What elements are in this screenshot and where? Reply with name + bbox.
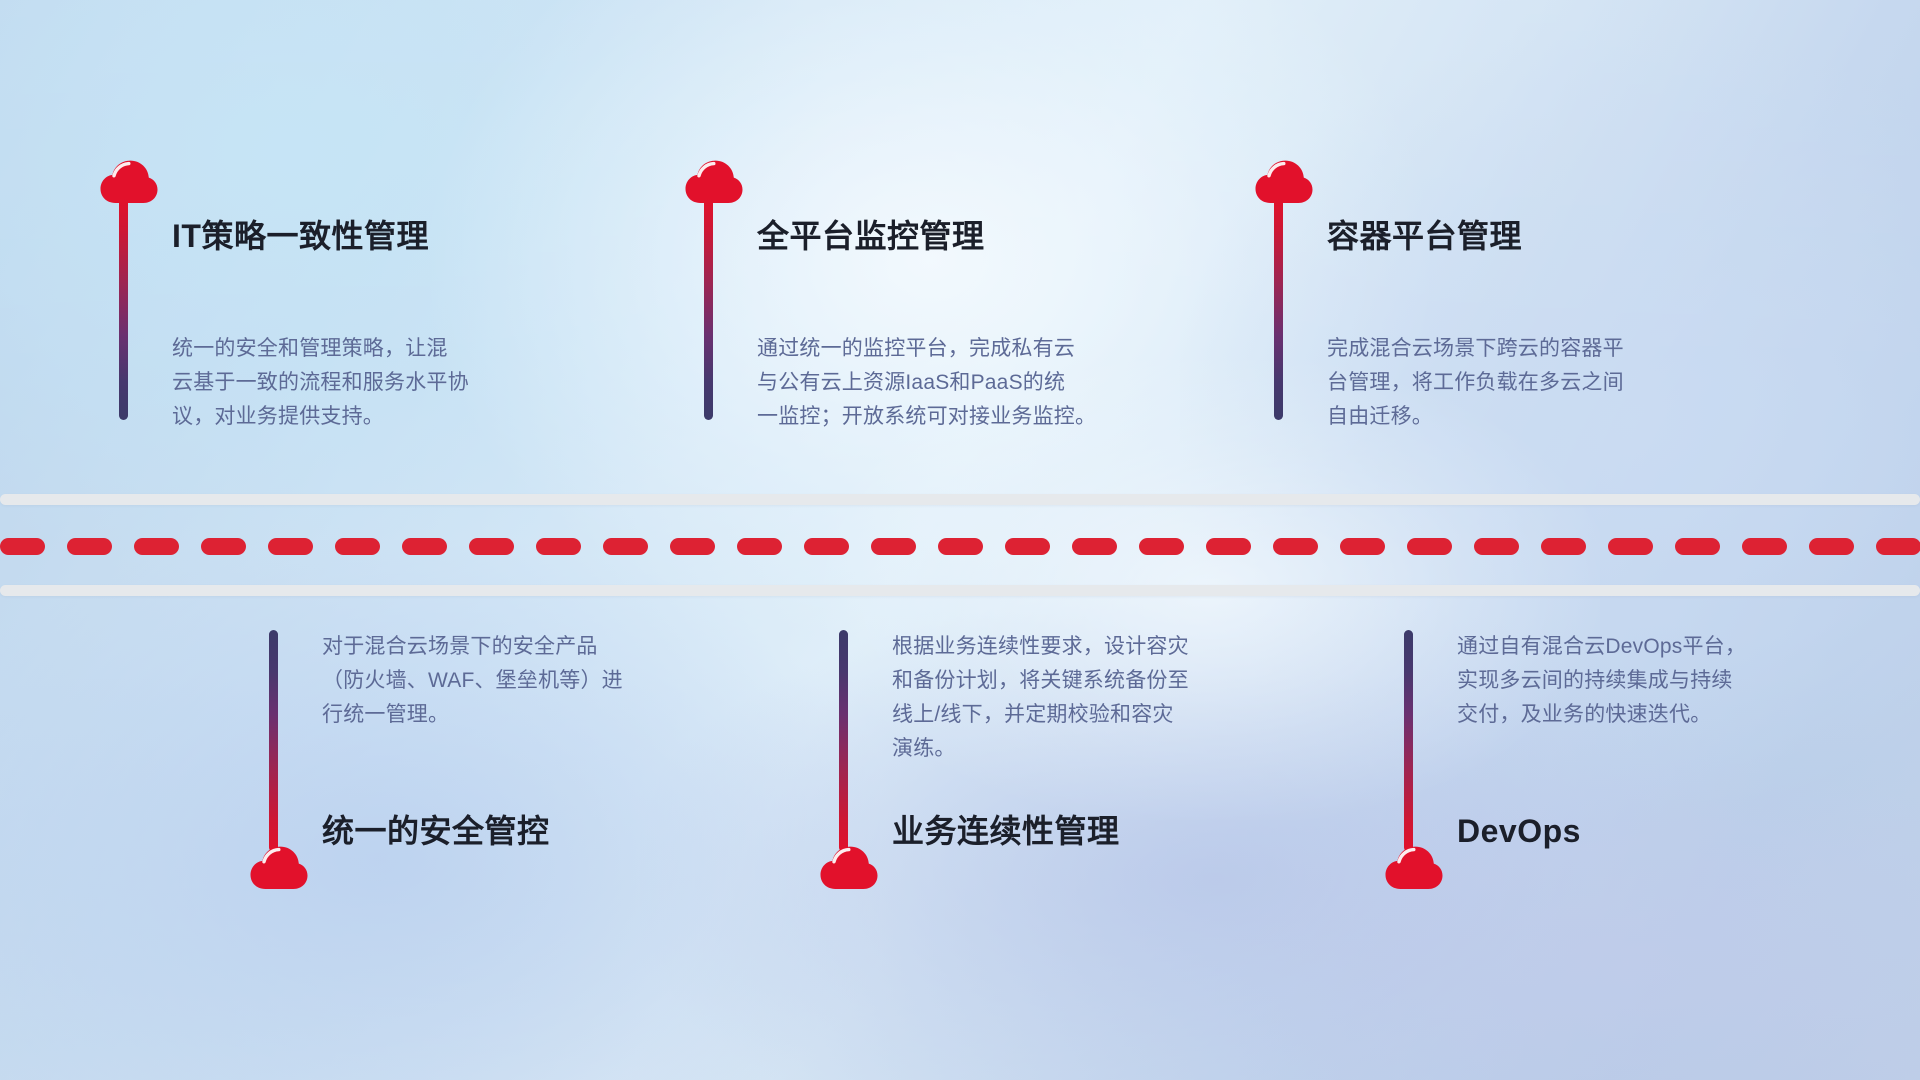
connector-line	[269, 630, 278, 852]
connector-line	[119, 198, 128, 420]
divider-dash	[335, 538, 380, 555]
cloud-icon	[250, 846, 308, 890]
connector-line	[1274, 198, 1283, 420]
connector-line	[839, 630, 848, 852]
connector-line	[1404, 630, 1413, 852]
divider-dash	[1139, 538, 1184, 555]
card-body: 根据业务连续性要求，设计容灾 和备份计划，将关键系统备份至 线上/线下，并定期校…	[892, 630, 1189, 766]
cloud-icon	[1385, 846, 1443, 890]
cloud-icon	[100, 160, 158, 204]
divider-dash	[603, 538, 648, 555]
divider-dash	[1809, 538, 1854, 555]
divider-bar-bottom	[0, 585, 1920, 596]
divider-dash	[268, 538, 313, 555]
divider-dash	[1206, 538, 1251, 555]
divider-dash	[1675, 538, 1720, 555]
divider-dash	[938, 538, 983, 555]
divider-dash	[1273, 538, 1318, 555]
divider-dash	[67, 538, 112, 555]
cloud-icon	[1255, 160, 1313, 204]
divider-dash	[1876, 538, 1920, 555]
card-it-policy-consistency: IT策略一致性管理 统一的安全和管理策略，让混 云基于一致的流程和服务水平协 议…	[100, 160, 530, 460]
card-unified-security: 对于混合云场景下的安全产品 （防火墙、WAF、堡垒机等）进 行统一管理。 统一的…	[250, 630, 690, 920]
card-container-platform: 容器平台管理 完成混合云场景下跨云的容器平 台管理，将工作负载在多云之间 自由迁…	[1255, 160, 1705, 460]
connector-line	[704, 198, 713, 420]
divider-dash	[536, 538, 581, 555]
divider-dash	[670, 538, 715, 555]
divider-dash	[201, 538, 246, 555]
divider-bar-top	[0, 494, 1920, 505]
divider-dash	[1005, 538, 1050, 555]
card-body: 完成混合云场景下跨云的容器平 台管理，将工作负载在多云之间 自由迁移。	[1327, 332, 1624, 434]
divider-dash	[402, 538, 447, 555]
card-title: IT策略一致性管理	[172, 220, 429, 252]
card-title: 统一的安全管控	[322, 815, 550, 847]
divider-dash	[1742, 538, 1787, 555]
divider-dash	[1608, 538, 1653, 555]
card-business-continuity: 根据业务连续性要求，设计容灾 和备份计划，将关键系统备份至 线上/线下，并定期校…	[820, 630, 1270, 920]
divider-dash	[1407, 538, 1452, 555]
divider-dash	[1541, 538, 1586, 555]
divider-dash	[871, 538, 916, 555]
card-title: DevOps	[1457, 815, 1581, 847]
red-dashed-divider	[0, 538, 1920, 555]
card-body: 通过自有混合云DevOps平台， 实现多云间的持续集成与持续 交付，及业务的快速…	[1457, 630, 1746, 732]
divider-dash	[1072, 538, 1117, 555]
card-title: 业务连续性管理	[892, 815, 1120, 847]
card-devops: 通过自有混合云DevOps平台， 实现多云间的持续集成与持续 交付，及业务的快速…	[1385, 630, 1835, 920]
card-title: 容器平台管理	[1327, 220, 1522, 252]
card-title: 全平台监控管理	[757, 220, 985, 252]
divider-dash	[134, 538, 179, 555]
cloud-icon	[685, 160, 743, 204]
infographic-canvas: IT策略一致性管理 统一的安全和管理策略，让混 云基于一致的流程和服务水平协 议…	[0, 0, 1920, 1080]
divider-dash	[469, 538, 514, 555]
divider-dash	[804, 538, 849, 555]
divider-dash	[1340, 538, 1385, 555]
cloud-icon	[820, 846, 878, 890]
card-body: 对于混合云场景下的安全产品 （防火墙、WAF、堡垒机等）进 行统一管理。	[322, 630, 623, 732]
divider-dash	[737, 538, 782, 555]
card-body: 统一的安全和管理策略，让混 云基于一致的流程和服务水平协 议，对业务提供支持。	[172, 332, 469, 434]
divider-dash	[1474, 538, 1519, 555]
card-full-platform-monitoring: 全平台监控管理 通过统一的监控平台，完成私有云 与公有云上资源IaaS和PaaS…	[685, 160, 1135, 460]
card-body: 通过统一的监控平台，完成私有云 与公有云上资源IaaS和PaaS的统 一监控；开…	[757, 332, 1096, 434]
divider-dash	[0, 538, 45, 555]
